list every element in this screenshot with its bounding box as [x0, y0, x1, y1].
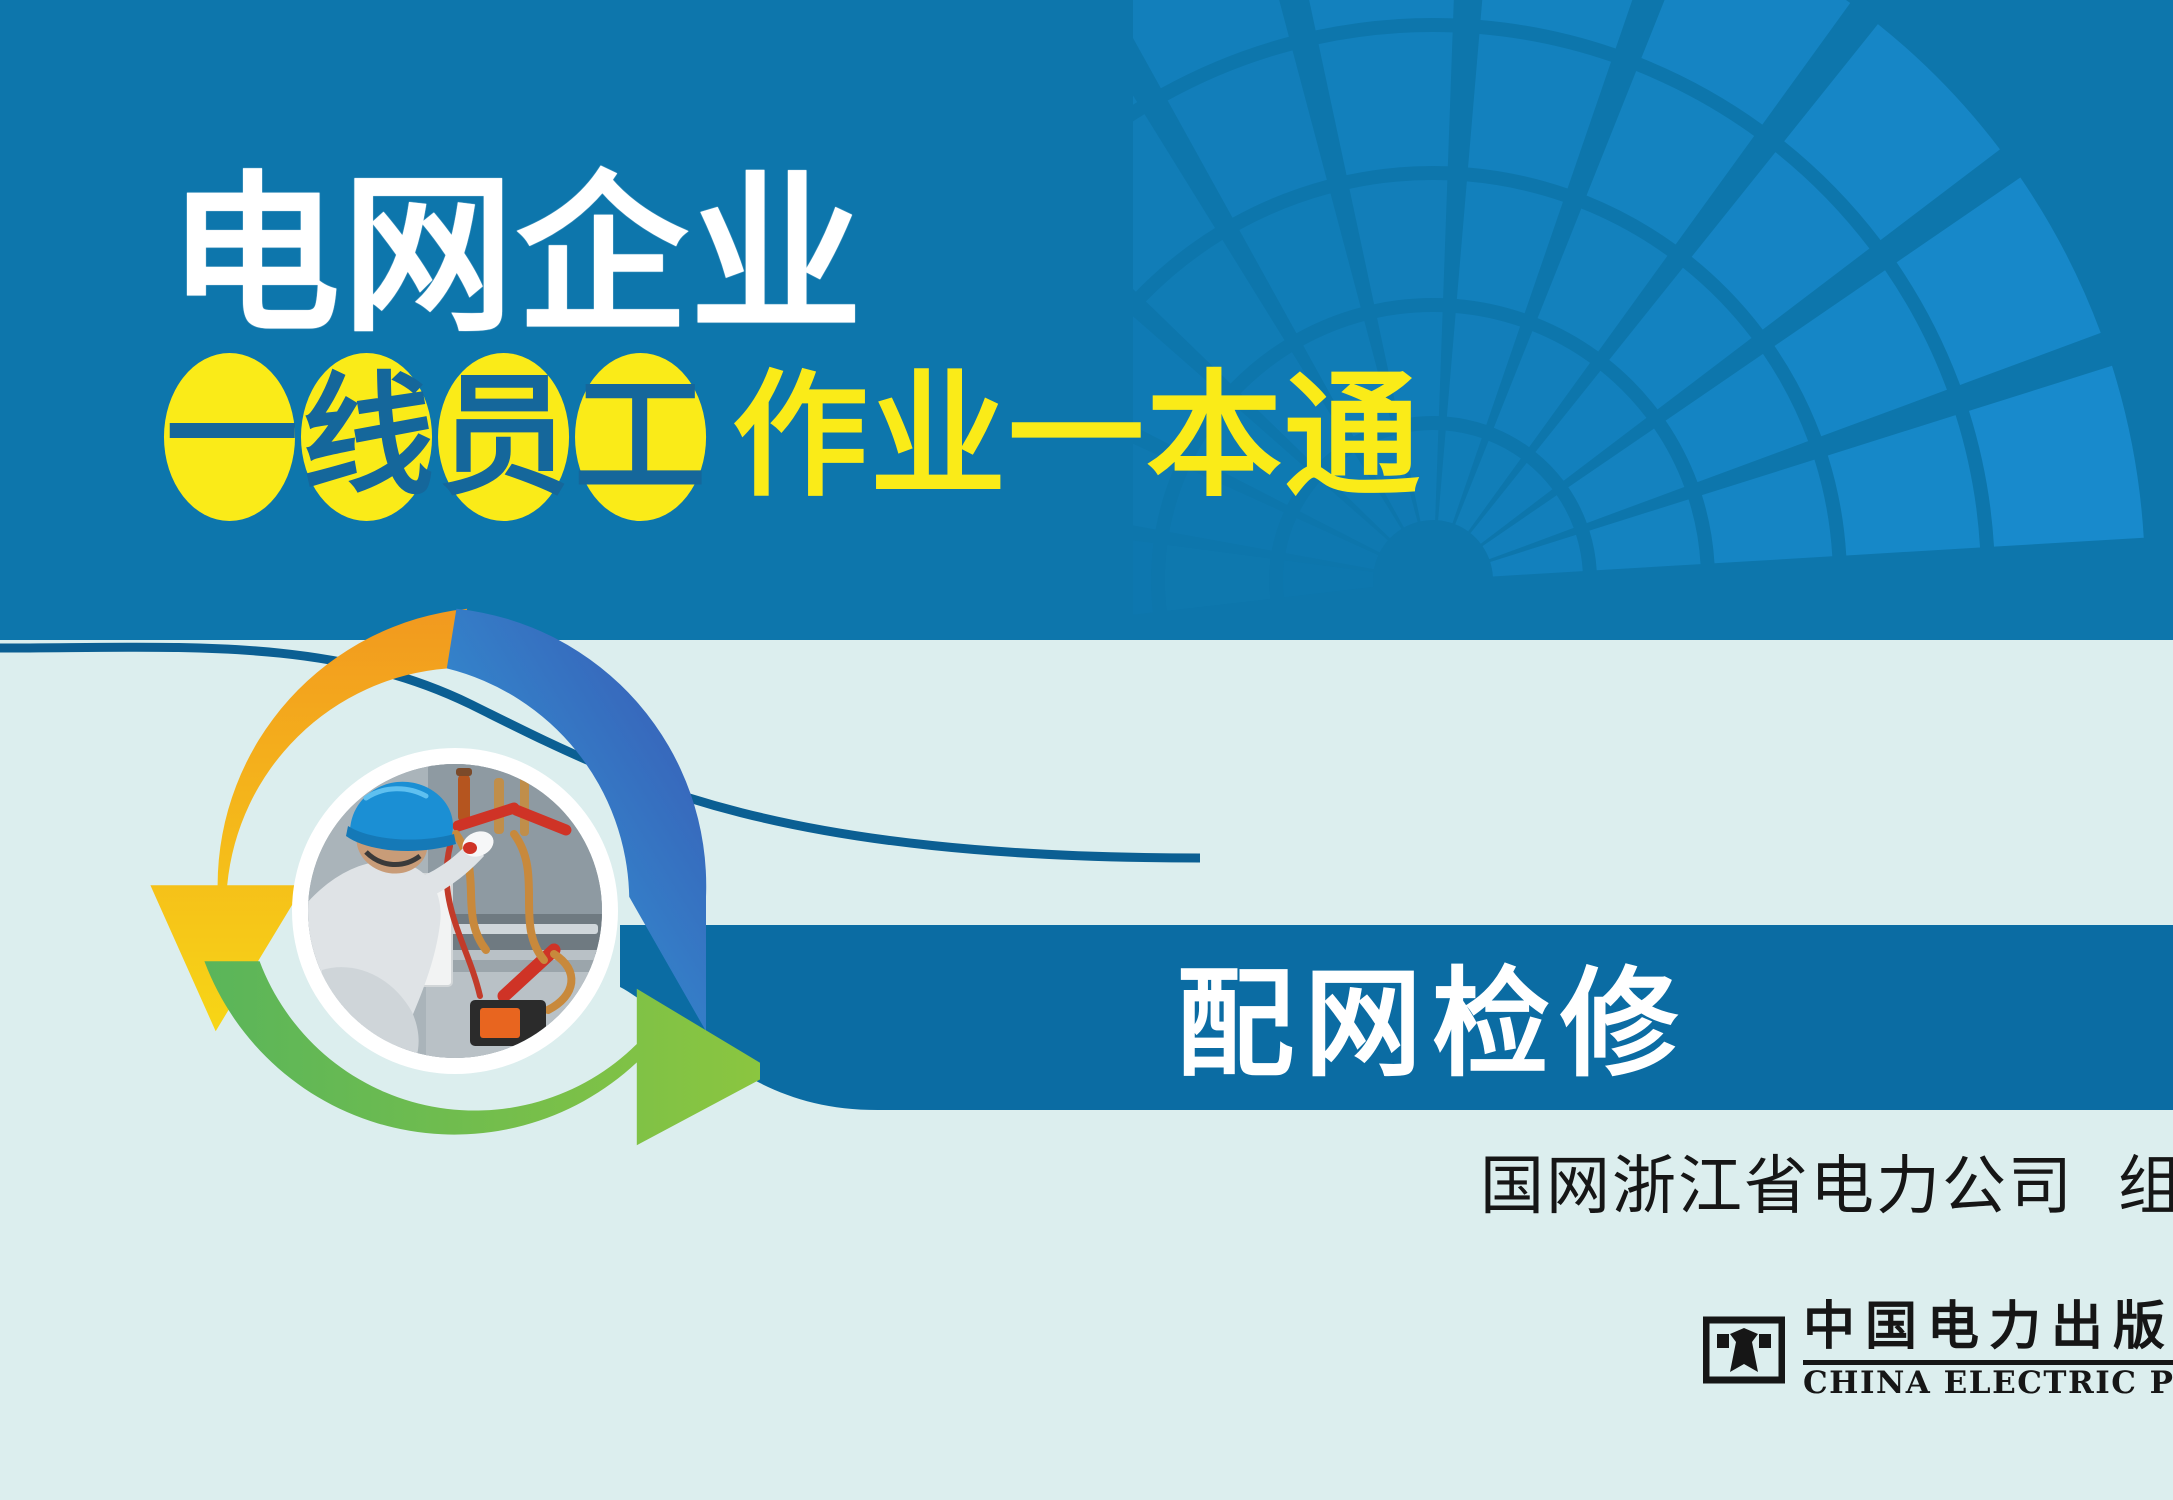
photo-circle-frame	[292, 748, 618, 1074]
publisher-name-en: CHINA ELECTRIC POWER PRESS	[1803, 1368, 2173, 1399]
open-book-logo-icon	[1703, 1308, 1785, 1390]
subtitle-row: 一线员工 作业一本通	[160, 352, 1422, 522]
author-organization: 国网浙江省电力公司	[1480, 1150, 2074, 1224]
publisher-text-block: 中国电力出版社 CHINA ELECTRIC POWER PRESS	[1803, 1300, 2173, 1399]
author-role: 组编	[2118, 1150, 2173, 1224]
subtitle-plain-text: 作业一本通	[732, 369, 1422, 505]
publisher-logo: 中国电力出版社 CHINA ELECTRIC POWER PRESS	[1703, 1300, 2173, 1399]
publisher-rule	[1803, 1360, 2173, 1365]
worker-inspecting-switchgear-illustration-icon	[308, 764, 602, 1058]
section-title: 配网检修	[1176, 950, 1688, 1098]
author-line: 国网浙江省电力公司组编	[1480, 1155, 2173, 1219]
subtitle-highlight-group: 一线员工	[160, 353, 716, 521]
book-cover: 电网企业 一线员工 作业一本通	[0, 0, 2173, 1500]
publisher-name-cn: 中国电力出版社	[1803, 1300, 2173, 1355]
worker-photo	[308, 764, 602, 1058]
subtitle-highlight-text: 一线员工	[166, 371, 710, 503]
main-title: 电网企业	[168, 170, 864, 342]
